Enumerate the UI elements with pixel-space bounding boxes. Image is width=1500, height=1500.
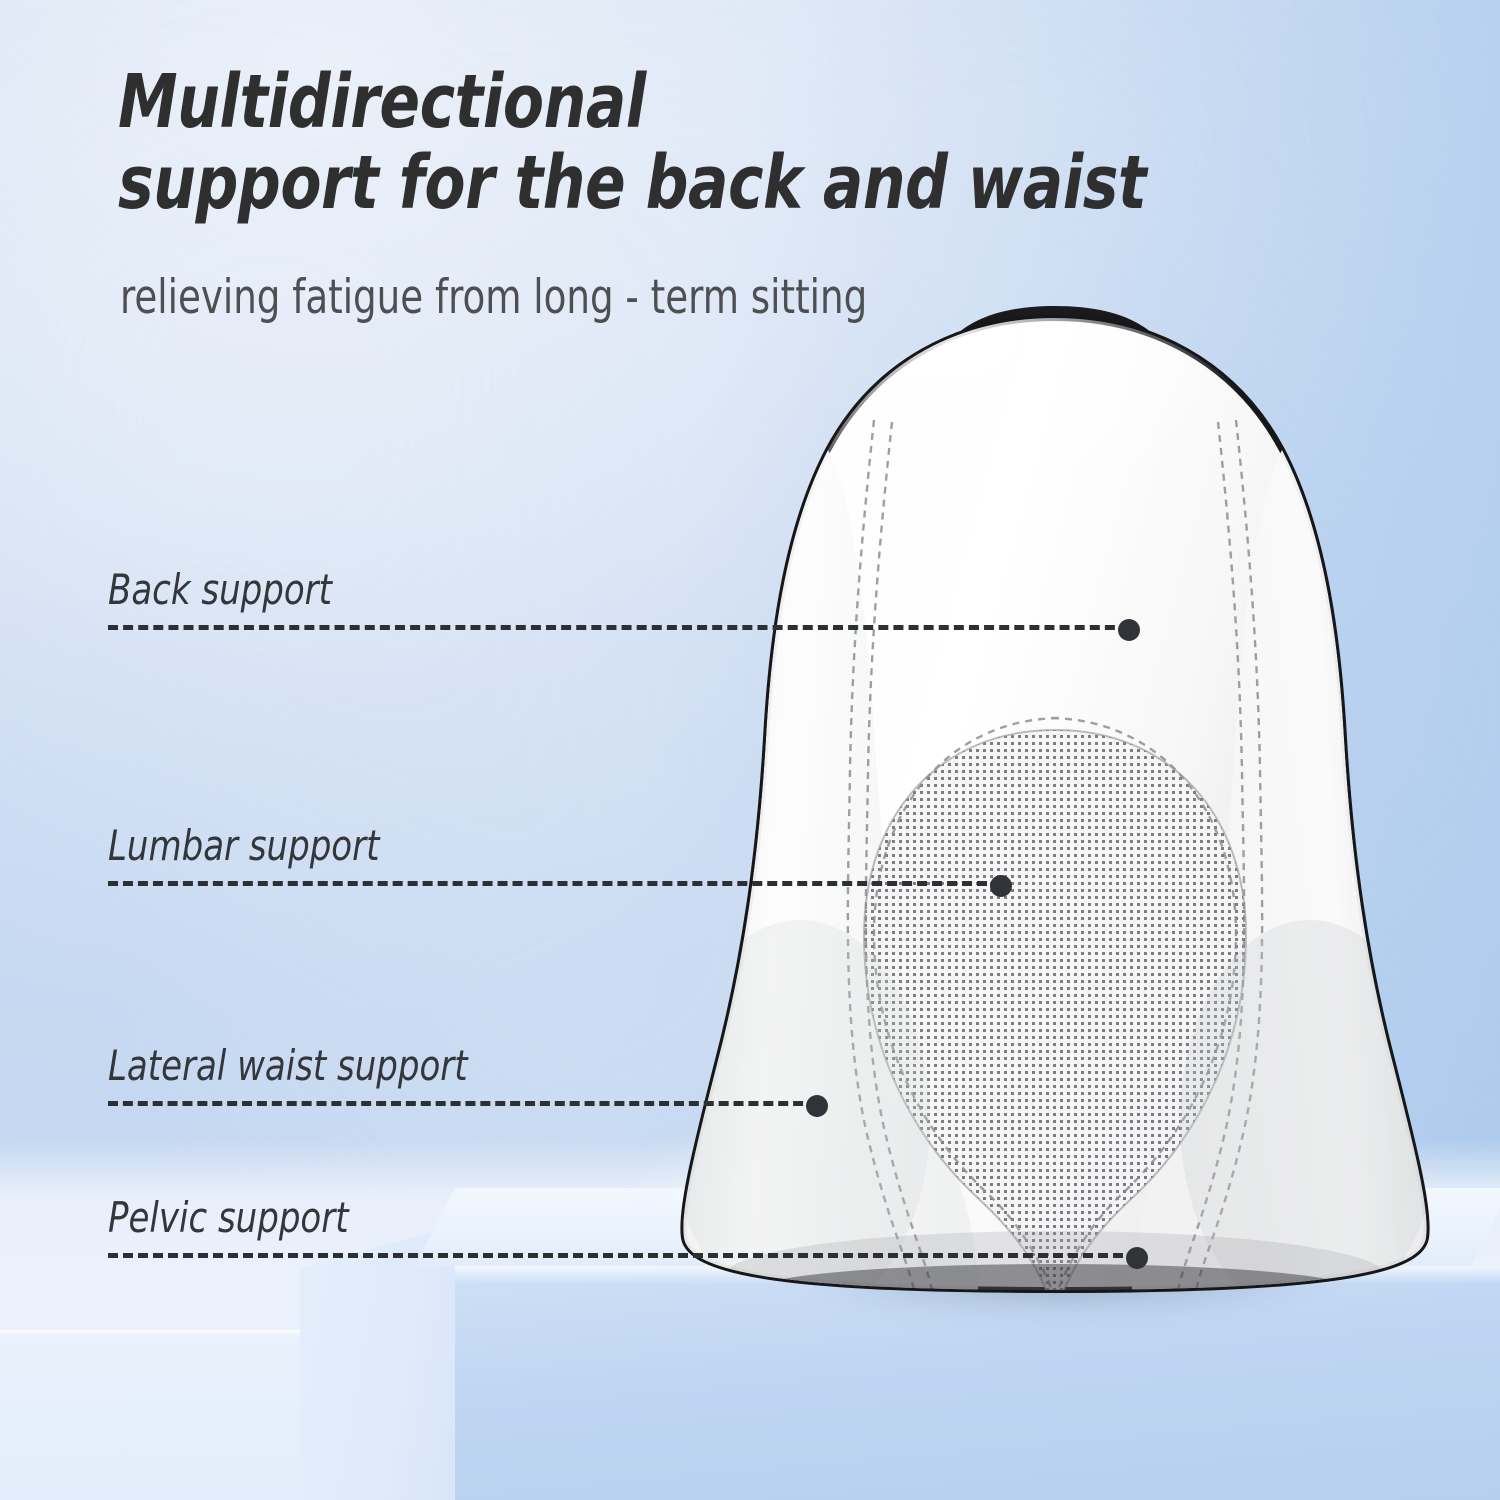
marker-dot-lumbar-support [990, 875, 1012, 897]
leader-line-lumbar-support [108, 881, 1002, 886]
marker-dot-back-support [1118, 619, 1140, 641]
page-subtitle: relieving fatigue from long - term sitti… [120, 272, 1132, 324]
callout-pelvic-support: Pelvic support [108, 1166, 1146, 1258]
marker-dot-pelvic-support [1126, 1247, 1148, 1269]
callout-lumbar-support: Lumbar support [108, 794, 1008, 886]
page-title: Multidirectional support for the back an… [118, 62, 1261, 225]
callout-lumbar-support-label: Lumbar support [108, 821, 379, 870]
leader-line-pelvic-support [108, 1253, 1138, 1258]
callout-back-support: Back support [108, 538, 1138, 630]
callout-lateral-waist-support: Lateral waist support [108, 1014, 826, 1106]
leader-line-lateral-waist-support [108, 1101, 818, 1106]
leader-line-back-support [108, 625, 1130, 630]
marker-dot-lateral-waist-support [806, 1095, 828, 1117]
callout-back-support-label: Back support [108, 565, 332, 614]
infographic-canvas: Multidirectional support for the back an… [0, 0, 1500, 1500]
callout-pelvic-support-label: Pelvic support [108, 1193, 349, 1242]
callout-lateral-waist-support-label: Lateral waist support [108, 1041, 468, 1090]
